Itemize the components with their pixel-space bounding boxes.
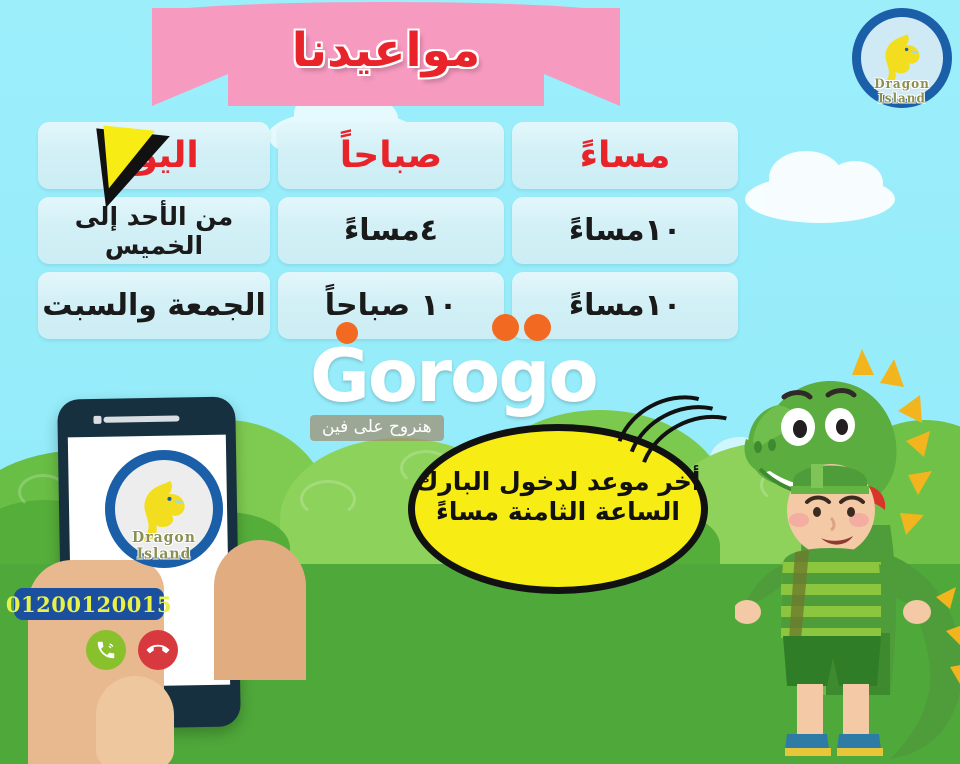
earpiece-speaker <box>103 415 179 422</box>
hand-fingers-back <box>214 540 306 680</box>
brand-logo-top: Dragon Island <box>852 8 952 108</box>
speech-bubble-tail-fill <box>97 125 155 192</box>
column-header-morning: صباحاً <box>278 122 504 189</box>
phone-call-icon[interactable] <box>86 630 126 670</box>
logo-brand-name: Dragon Island <box>105 529 223 563</box>
poster-canvas: Dragon Island مواعيدنا مساءً صباحاً اليو… <box>0 0 960 764</box>
front-camera-icon <box>93 416 101 424</box>
boy-mascot <box>735 452 935 764</box>
table-row: ١٠مساءً ١٠ صباحاً الجمعة والسبت <box>38 272 738 339</box>
header-ribbon: مواعيدنا <box>152 8 620 106</box>
phone-number-display: 01200120015 <box>14 588 164 620</box>
column-header-evening: مساءً <box>512 122 738 189</box>
cell-morning: ١٠ صباحاً <box>278 272 504 339</box>
cell-day: الجمعة والسبت <box>38 272 270 339</box>
cell-evening: ١٠مساءً <box>512 197 738 264</box>
phone-hangup-icon[interactable] <box>138 630 178 670</box>
brand-logo-phone: Dragon Island <box>105 450 223 568</box>
cloud-icon <box>745 175 895 223</box>
cell-evening: ١٠مساءً <box>512 272 738 339</box>
cell-morning: ٤مساءً <box>278 197 504 264</box>
page-title: مواعيدنا <box>152 8 620 94</box>
thumb <box>96 676 174 764</box>
logo-brand-name: Dragon Island <box>852 76 952 105</box>
